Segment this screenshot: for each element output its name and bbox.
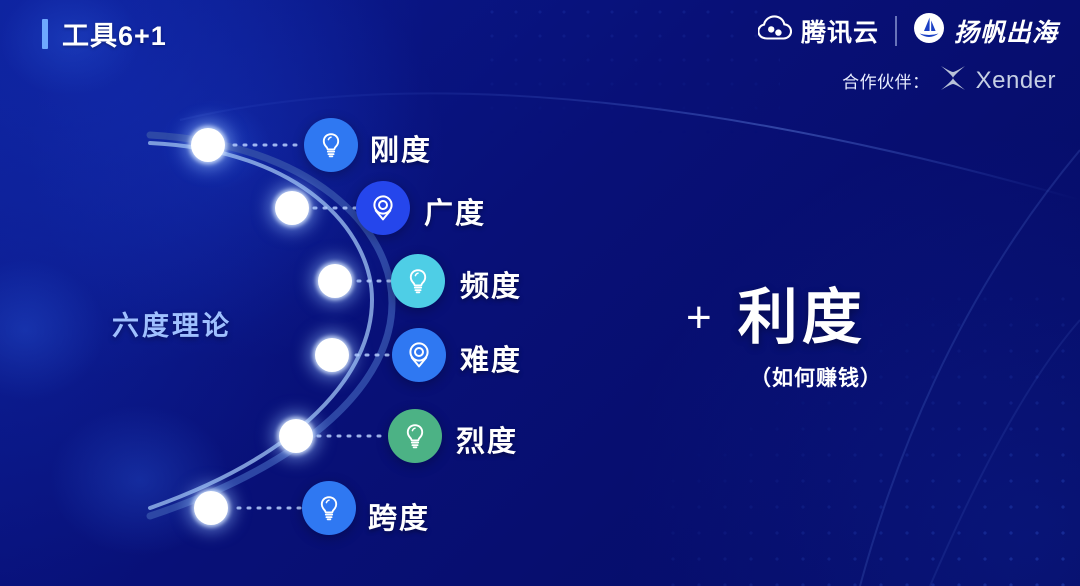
item-label-pindu: 频度 [460, 263, 522, 305]
location-pin-icon [404, 339, 434, 371]
partner-label: 合作伙伴： [842, 68, 930, 93]
highlight-word: 利度 [738, 288, 866, 348]
item-icon-nandu[interactable] [392, 328, 446, 382]
highlight-main-row: + 利度 [686, 288, 986, 348]
arc-node-2 [275, 191, 309, 225]
arc-node-4 [315, 338, 349, 372]
brand-yangfan: 扬帆出海 [913, 12, 1058, 49]
slide-root: 工具6+1 腾讯云 扬帆出海 [0, 0, 1080, 586]
item-icon-gangdu[interactable] [304, 118, 358, 172]
six-degrees-diagram: 刚度 广度 频度 [0, 0, 700, 586]
item-label-nandu: 难度 [460, 337, 522, 379]
item-icon-guangdu[interactable] [356, 181, 410, 235]
partner-row: 合作伙伴： Xender [842, 64, 1056, 97]
lightbulb-icon [314, 493, 344, 523]
plus-sign: + [686, 296, 712, 340]
cloud-icon [758, 15, 792, 46]
location-pin-icon [368, 192, 398, 224]
lightbulb-icon [316, 130, 346, 160]
item-label-kuadu: 跨度 [368, 495, 430, 537]
brand-row: 腾讯云 扬帆出海 [758, 12, 1058, 49]
item-label-liedu: 烈度 [456, 418, 518, 460]
brand-name-yangfan: 扬帆出海 [954, 13, 1058, 49]
lightbulb-icon [400, 421, 430, 451]
item-icon-liedu[interactable] [388, 409, 442, 463]
brand-tencent-cloud: 腾讯云 [758, 13, 879, 49]
xender-x-icon [938, 64, 968, 97]
arc-node-5 [279, 419, 313, 453]
arc-node-6 [194, 491, 228, 525]
sailboat-icon [913, 12, 945, 49]
highlight-block: + 利度 （如何赚钱） [686, 288, 986, 392]
brand-name-tencent-cloud: 腾讯云 [801, 13, 879, 49]
theory-label: 六度理论 [112, 304, 232, 343]
item-icon-kuadu[interactable] [302, 481, 356, 535]
brand-divider [895, 16, 897, 46]
arc-node-3 [318, 264, 352, 298]
item-label-gangdu: 刚度 [370, 127, 432, 169]
item-icon-pindu[interactable] [391, 254, 445, 308]
item-label-guangdu: 广度 [424, 190, 486, 232]
lightbulb-icon [403, 266, 433, 296]
arc-node-1 [191, 128, 225, 162]
partner-name: Xender [976, 67, 1056, 95]
highlight-subtitle: （如何赚钱） [686, 362, 986, 392]
